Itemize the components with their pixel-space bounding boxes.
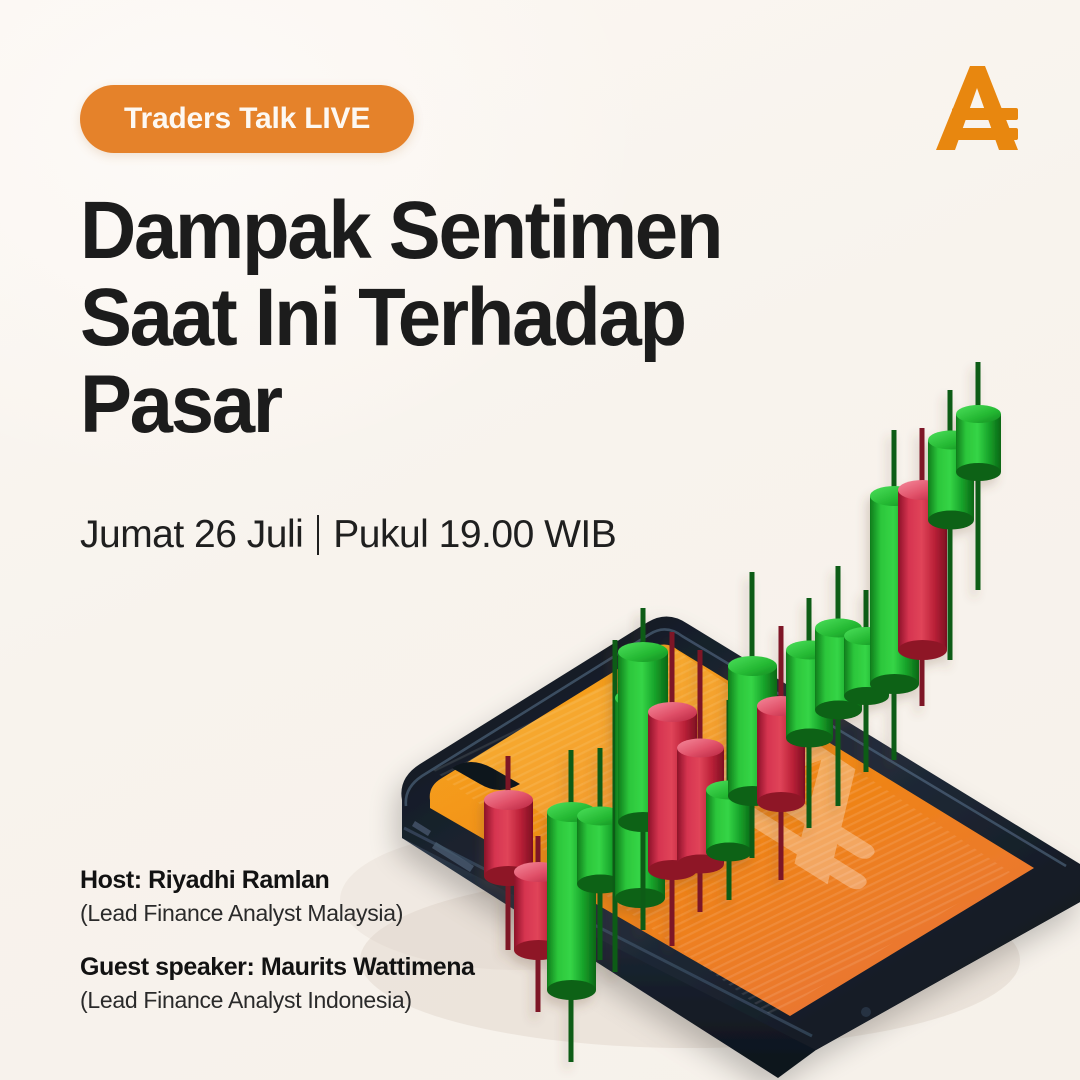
badge-label: Traders Talk LIVE <box>124 102 370 136</box>
candle-bearish <box>648 632 697 946</box>
candle-bullish <box>956 362 1001 590</box>
headline-line-2: Saat Ini Terhadap <box>80 275 802 362</box>
headline-line-1: Dampak Sentimen <box>80 188 802 275</box>
schedule-time: Pukul 19.00 WIB <box>333 513 616 557</box>
guest-speaker-entry: Guest speaker: Maurits Wattimena (Lead F… <box>80 953 475 1014</box>
guest-speaker-role: (Lead Finance Analyst Indonesia) <box>80 987 475 1014</box>
candle-bearish <box>677 650 724 912</box>
candle-bullish <box>706 700 752 900</box>
host-role: (Lead Finance Analyst Malaysia) <box>80 900 475 927</box>
speakers-block: Host: Riyadhi Ramlan (Lead Finance Analy… <box>80 866 475 1014</box>
candle-bullish <box>615 640 665 972</box>
schedule-separator <box>317 515 319 555</box>
traders-talk-live-badge[interactable]: Traders Talk LIVE <box>80 85 414 153</box>
candle-bearish <box>898 428 947 706</box>
promo-poster: Traders Talk LIVE Dampak Sentimen Saat I… <box>0 0 1080 1080</box>
candle-bearish <box>514 836 563 1012</box>
candle-bullish <box>786 598 833 828</box>
host-entry: Host: Riyadhi Ramlan (Lead Finance Analy… <box>80 866 475 927</box>
schedule-date: Jumat 26 Juli <box>80 513 303 557</box>
brand-a-logo-icon <box>926 58 1030 158</box>
smartphone-device <box>401 600 1080 1078</box>
host-name: Host: Riyadhi Ramlan <box>80 866 475 895</box>
candle-bullish <box>577 748 624 960</box>
candle-bullish <box>547 750 596 1062</box>
page-title: Dampak Sentimen Saat Ini Terhadap Pasar <box>80 188 802 449</box>
candlestick-series <box>484 362 1001 1062</box>
candle-bullish <box>870 430 919 760</box>
guest-speaker-name: Guest speaker: Maurits Wattimena <box>80 953 475 982</box>
candle-bullish <box>844 590 889 772</box>
candle-bullish <box>815 566 862 806</box>
candle-bullish <box>728 572 777 858</box>
candle-bullish <box>928 390 974 660</box>
candle-bearish <box>757 626 805 880</box>
candle-bearish <box>484 756 533 950</box>
candle-bullish <box>618 608 668 930</box>
headline-line-3: Pasar <box>80 362 802 449</box>
schedule-line: Jumat 26 Juli Pukul 19.00 WIB <box>80 513 616 557</box>
